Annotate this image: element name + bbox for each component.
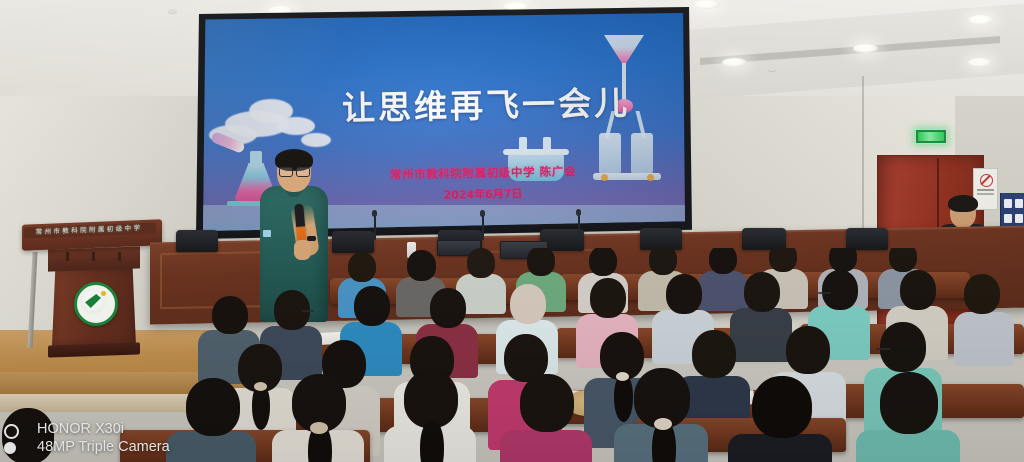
smoke-detector-icon [168, 9, 177, 13]
person-body [954, 312, 1014, 366]
person-head [786, 326, 830, 374]
smoke-detector-icon [768, 67, 776, 71]
glasses-right-lens [296, 167, 310, 177]
wristwatch [307, 236, 316, 241]
gooseneck-microphone [482, 214, 484, 240]
person-head [889, 248, 917, 272]
board-card [1015, 214, 1023, 223]
person-head [752, 376, 812, 438]
person-head [709, 248, 737, 274]
board-card [1004, 199, 1012, 208]
person-body [730, 308, 792, 362]
person-head [354, 286, 390, 326]
downlight-icon [968, 58, 992, 67]
gooseneck-microphone [374, 214, 376, 240]
person-head [829, 248, 857, 272]
person-head [186, 378, 240, 436]
person-head [348, 252, 376, 282]
person-head [900, 270, 936, 310]
person-head [589, 248, 617, 276]
bench-row [780, 272, 970, 298]
board-card [1004, 214, 1012, 223]
dais-chair [846, 228, 888, 250]
hair-tie [654, 418, 672, 430]
person-head [880, 372, 938, 434]
person-body [856, 430, 960, 462]
glasses-left-lens [279, 167, 293, 177]
camera-watermark: HONOR X30i 48MP Triple Camera [12, 420, 170, 456]
eyeglasses-icon [818, 292, 831, 294]
person-body [166, 432, 256, 462]
downlight-icon [968, 15, 994, 25]
person-head [467, 248, 495, 278]
running-man-exit-icon [918, 132, 944, 141]
watermark-device: HONOR X30i [12, 420, 170, 438]
person-head [769, 248, 797, 272]
person-head [590, 278, 626, 318]
person-head [407, 250, 436, 281]
person-body [500, 430, 592, 462]
screenshot-root: 让思维再飞一会儿 常州市教科院附属初级中学 陈广会 2024年6月7日 [0, 0, 1024, 462]
person-head [666, 274, 702, 314]
person-head [692, 330, 736, 378]
person-head [964, 274, 1000, 314]
hair-tie [310, 422, 328, 434]
sign-text-line [977, 193, 994, 195]
eyeglasses-icon [302, 310, 314, 312]
microphone-head-icon [576, 209, 581, 216]
person-head [510, 284, 546, 324]
ponytail [420, 420, 444, 462]
dais-chair [640, 228, 682, 250]
microphone-head-icon [372, 210, 377, 217]
person-body [698, 271, 748, 311]
sign-text-line [977, 189, 994, 191]
person-head [430, 288, 466, 328]
person-head [520, 374, 574, 432]
downlight-icon [853, 44, 878, 53]
hair-tie [254, 382, 267, 391]
person-head [527, 248, 555, 276]
person-body [728, 434, 832, 462]
presenter-badge [263, 230, 271, 237]
eyeglasses-icon [876, 348, 891, 350]
gooseneck-microphone [578, 213, 580, 239]
microphone-head-icon [480, 210, 485, 217]
downlight-icon [694, 0, 720, 9]
stander-hair [948, 195, 978, 212]
exit-sign [915, 129, 947, 144]
dais-chair [742, 228, 786, 250]
downlight-icon [722, 58, 747, 67]
person-head [649, 248, 677, 275]
person-head [822, 270, 858, 310]
person-head [880, 322, 926, 372]
board-card [1015, 199, 1023, 208]
person-head [744, 272, 780, 312]
watermark-camera: 48MP Triple Camera [12, 438, 170, 456]
ponytail [614, 374, 633, 422]
person-head [212, 296, 248, 334]
hair-tie [616, 372, 629, 381]
eyeglasses-icon [279, 167, 309, 175]
